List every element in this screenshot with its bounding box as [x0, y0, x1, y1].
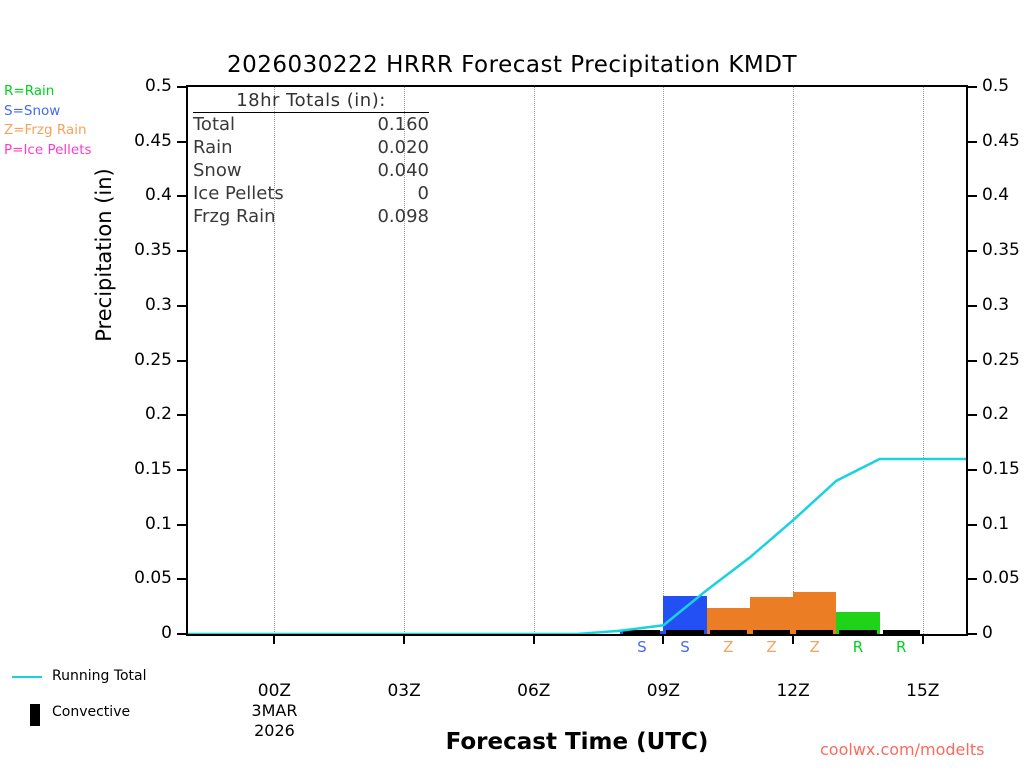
y-tick-label: 0.1	[112, 514, 172, 534]
y-tick-label: 0.2	[112, 404, 172, 424]
totals-row: Snow0.040	[193, 159, 429, 182]
y-tick	[177, 469, 186, 471]
page-title: 2026030222 HRRR Forecast Precipitation K…	[0, 52, 1024, 78]
totals-row-label: Frzg Rain	[193, 205, 276, 228]
y-tick-label: 0.05	[982, 568, 1024, 588]
y-tick-label: 0.05	[112, 568, 172, 588]
y-tick-label: 0.5	[982, 76, 1024, 96]
watermark: coolwx.com/modelts	[820, 740, 984, 759]
y-tick	[968, 469, 977, 471]
precip-legend-item-s: S=Snow	[4, 102, 92, 122]
y-tick	[177, 141, 186, 143]
totals-row-value: 0.160	[377, 113, 429, 136]
x-tick-label: 15Z	[878, 681, 968, 701]
totals-row-label: Total	[193, 113, 235, 136]
y-tick-label: 0.45	[982, 131, 1024, 151]
y-tick	[968, 360, 977, 362]
x-tick-label: 09Z	[618, 681, 708, 701]
totals-row: Frzg Rain0.098	[193, 205, 429, 228]
y-tick	[968, 86, 977, 88]
x-tick-label-main: 12Z	[776, 681, 809, 701]
precipitation-forecast-chart: 2026030222 HRRR Forecast Precipitation K…	[0, 0, 1024, 768]
y-tick	[177, 524, 186, 526]
y-tick	[968, 578, 977, 580]
y-tick-label: 0.25	[982, 350, 1024, 370]
y-tick	[968, 414, 977, 416]
y-tick-label: 0	[982, 623, 1024, 643]
totals-summary-box: 18hr Totals (in): Total0.160Rain0.020Sno…	[193, 90, 429, 228]
totals-row-label: Ice Pellets	[193, 182, 284, 205]
precip-type-legend: R=RainS=SnowZ=Frzg RainP=Ice Pellets	[4, 82, 92, 160]
bar-type-letter: R	[881, 638, 921, 656]
y-tick-label: 0.45	[112, 131, 172, 151]
y-tick-label: 0.15	[112, 459, 172, 479]
precip-legend-item-z: Z=Frzg Rain	[4, 121, 92, 141]
precip-legend-item-r: R=Rain	[4, 82, 92, 102]
y-tick	[177, 86, 186, 88]
y-tick-label: 0.3	[112, 295, 172, 315]
x-tick-label-main: 03Z	[387, 681, 420, 701]
totals-row-label: Snow	[193, 159, 242, 182]
x-tick-label-main: 00Z	[258, 681, 291, 701]
y-tick	[968, 524, 977, 526]
totals-row-value: 0	[418, 182, 429, 205]
y-tick-label: 0.35	[112, 240, 172, 260]
x-tick-sublabel: 2026	[229, 721, 319, 741]
y-tick	[177, 633, 186, 635]
bar-type-letter: Z	[752, 638, 792, 656]
totals-row: Ice Pellets0	[193, 182, 429, 205]
bar-type-letter: Z	[795, 638, 835, 656]
x-tick	[922, 636, 924, 644]
y-tick	[968, 141, 977, 143]
x-tick-label: 00Z3MAR2026	[229, 681, 319, 741]
y-tick-label: 0.15	[982, 459, 1024, 479]
y-tick-label: 0	[112, 623, 172, 643]
convective-bar-swatch	[30, 704, 40, 726]
bar-type-letter: S	[622, 638, 662, 656]
x-tick-label-main: 06Z	[517, 681, 550, 701]
y-tick-label: 0.4	[982, 185, 1024, 205]
x-tick-label: 12Z	[748, 681, 838, 701]
totals-row-value: 0.020	[377, 136, 429, 159]
totals-row: Total0.160	[193, 113, 429, 136]
bar-type-letter: Z	[708, 638, 748, 656]
y-tick-label: 0.2	[982, 404, 1024, 424]
precip-legend-item-p: P=Ice Pellets	[4, 141, 92, 161]
x-tick	[403, 636, 405, 644]
totals-heading: 18hr Totals (in):	[193, 90, 429, 113]
y-tick	[177, 195, 186, 197]
totals-row: Rain0.020	[193, 136, 429, 159]
x-tick-label-main: 15Z	[906, 681, 939, 701]
y-tick	[177, 250, 186, 252]
bar-type-letter: S	[665, 638, 705, 656]
y-tick	[177, 305, 186, 307]
y-tick	[177, 578, 186, 580]
legend-label: Convective	[52, 704, 130, 720]
x-tick-sublabel: 3MAR	[229, 701, 319, 721]
y-tick	[968, 633, 977, 635]
y-tick-label: 0.5	[112, 76, 172, 96]
y-tick-label: 0.3	[982, 295, 1024, 315]
x-tick-label: 06Z	[489, 681, 579, 701]
x-tick-label: 03Z	[359, 681, 449, 701]
legend-label: Running Total	[52, 668, 147, 684]
y-tick-label: 0.35	[982, 240, 1024, 260]
x-tick-label-main: 09Z	[647, 681, 680, 701]
y-tick-label: 0.25	[112, 350, 172, 370]
totals-row-label: Rain	[193, 136, 233, 159]
y-tick	[177, 360, 186, 362]
totals-row-value: 0.040	[377, 159, 429, 182]
y-tick	[968, 195, 977, 197]
running-total-polyline	[188, 459, 966, 634]
y-tick-label: 0.1	[982, 514, 1024, 534]
totals-rows: Total0.160Rain0.020Snow0.040Ice Pellets0…	[193, 113, 429, 228]
running-total-line-swatch	[12, 676, 42, 678]
x-tick	[273, 636, 275, 644]
y-tick	[177, 414, 186, 416]
totals-row-value: 0.098	[377, 205, 429, 228]
y-tick	[968, 250, 977, 252]
bar-type-letter: R	[838, 638, 878, 656]
y-tick-label: 0.4	[112, 185, 172, 205]
y-tick	[968, 305, 977, 307]
x-tick	[533, 636, 535, 644]
